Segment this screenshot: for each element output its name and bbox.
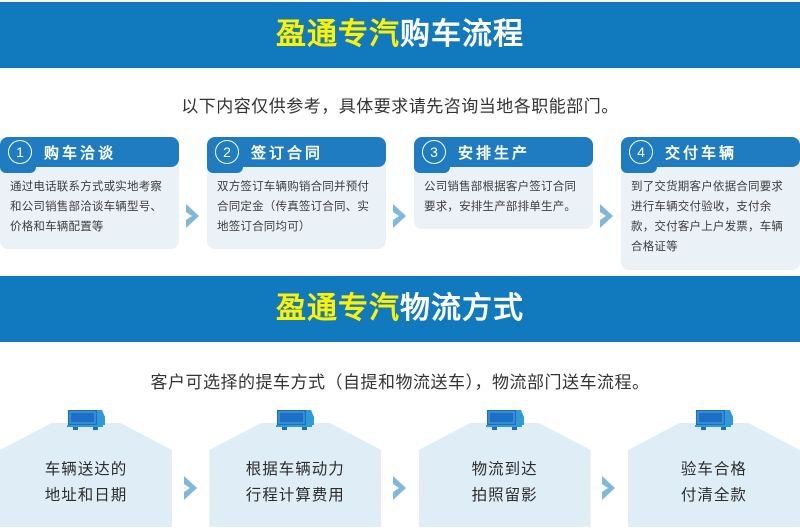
purchase-banner-title: 盈通专汽购车流程 bbox=[276, 20, 524, 50]
step-card-3[interactable]: 3 安排生产 公司销售部根据客户签订合同要求，安排生产部排单生产。 bbox=[414, 137, 593, 229]
step-body-1: 通过电话联系方式或实地考察和公司销售部洽谈车辆型号、价格和车辆配置等 bbox=[0, 163, 179, 249]
logistics-card-1[interactable]: 车辆送达的 地址和日期 bbox=[0, 407, 172, 527]
logistics-banner-subject: 物流方式 bbox=[400, 292, 524, 325]
logistics-banner-title: 盈通专汽物流方式 bbox=[276, 294, 524, 324]
logistics-card-text-3: 物流到达 拍照留影 bbox=[419, 457, 591, 508]
logistics-card-3[interactable]: 物流到达 拍照留影 bbox=[419, 407, 591, 527]
logistics-card-4[interactable]: 验车合格 付清全款 bbox=[628, 407, 800, 527]
chevron-right-icon bbox=[179, 475, 203, 501]
chevron-right-icon bbox=[594, 203, 620, 229]
logistics-card-text-1: 车辆送达的 地址和日期 bbox=[0, 457, 172, 508]
chevron-right-icon bbox=[387, 203, 413, 229]
logistics-card-line1: 根据车辆动力 bbox=[209, 457, 381, 483]
step-title-2: 签订合同 bbox=[251, 142, 323, 163]
brand-name-text: 盈通专汽 bbox=[276, 292, 400, 325]
logistics-card-line2: 地址和日期 bbox=[0, 483, 172, 509]
logistics-section: 盈通专汽物流方式 客户可选择的提车方式（自提和物流送车），物流部门送车流程。 车… bbox=[0, 276, 800, 527]
step-body-2: 双方签订车辆购销合同并预付合同定金（传真签订合同、实地签订合同均可） bbox=[207, 163, 386, 249]
chevron-right-icon bbox=[597, 475, 621, 501]
truck-icon bbox=[65, 407, 107, 436]
step-number-badge-3: 3 bbox=[422, 140, 446, 164]
purchase-subtitle: 以下内容仅供参考，具体要求请先咨询当地各职能部门。 bbox=[0, 92, 800, 117]
step-title-1: 购车洽谈 bbox=[44, 142, 116, 163]
logistics-card-text-4: 验车合格 付清全款 bbox=[628, 457, 800, 508]
logistics-card-line2: 付清全款 bbox=[628, 483, 800, 509]
logistics-card-line2: 拍照留影 bbox=[419, 483, 591, 509]
step-header-4: 4 交付车辆 bbox=[621, 137, 800, 167]
step-card-1[interactable]: 1 购车洽谈 通过电话联系方式或实地考察和公司销售部洽谈车辆型号、价格和车辆配置… bbox=[0, 137, 179, 249]
purchase-banner-subject: 购车流程 bbox=[400, 18, 524, 51]
step-header-3: 3 安排生产 bbox=[414, 137, 593, 167]
step-number-badge-1: 1 bbox=[8, 140, 32, 164]
step-card-2[interactable]: 2 签订合同 双方签订车辆购销合同并预付合同定金（传真签订合同、实地签订合同均可… bbox=[207, 137, 386, 249]
step-card-4[interactable]: 4 交付车辆 到了交货期客户依据合同要求进行车辆交付验收，支付余款，交付客户上户… bbox=[621, 137, 800, 270]
step-header-2: 2 签订合同 bbox=[207, 137, 386, 167]
logistics-banner: 盈通专汽物流方式 bbox=[0, 276, 800, 342]
logistics-subtitle: 客户可选择的提车方式（自提和物流送车），物流部门送车流程。 bbox=[0, 368, 800, 393]
brand-name-text: 盈通专汽 bbox=[276, 18, 400, 51]
logistics-card-line1: 车辆送达的 bbox=[0, 457, 172, 483]
step-header-1: 1 购车洽谈 bbox=[0, 137, 179, 167]
logistics-card-line2: 行程计算费用 bbox=[209, 483, 381, 509]
truck-icon bbox=[274, 407, 316, 436]
logistics-card-2[interactable]: 根据车辆动力 行程计算费用 bbox=[209, 407, 381, 527]
step-number-badge-4: 4 bbox=[629, 140, 653, 164]
step-title-3: 安排生产 bbox=[458, 142, 530, 163]
purchase-steps-row: 1 购车洽谈 通过电话联系方式或实地考察和公司销售部洽谈车辆型号、价格和车辆配置… bbox=[0, 137, 800, 270]
purchase-flow-section: 盈通专汽购车流程 以下内容仅供参考，具体要求请先咨询当地各职能部门。 1 购车洽… bbox=[0, 2, 800, 270]
step-title-4: 交付车辆 bbox=[665, 142, 737, 163]
step-body-4: 到了交货期客户依据合同要求进行车辆交付验收，支付余款，交付客户上户发票，车辆合格… bbox=[621, 163, 800, 270]
purchase-banner: 盈通专汽购车流程 bbox=[0, 2, 800, 68]
logistics-cards-row: 车辆送达的 地址和日期 根据车 bbox=[0, 407, 800, 527]
logistics-card-line1: 验车合格 bbox=[628, 457, 800, 483]
chevron-right-icon bbox=[388, 475, 412, 501]
chevron-right-icon bbox=[180, 203, 206, 229]
logistics-card-text-2: 根据车辆动力 行程计算费用 bbox=[209, 457, 381, 508]
logistics-card-line1: 物流到达 bbox=[419, 457, 591, 483]
truck-icon bbox=[693, 407, 735, 436]
truck-icon bbox=[484, 407, 526, 436]
step-number-badge-2: 2 bbox=[215, 140, 239, 164]
